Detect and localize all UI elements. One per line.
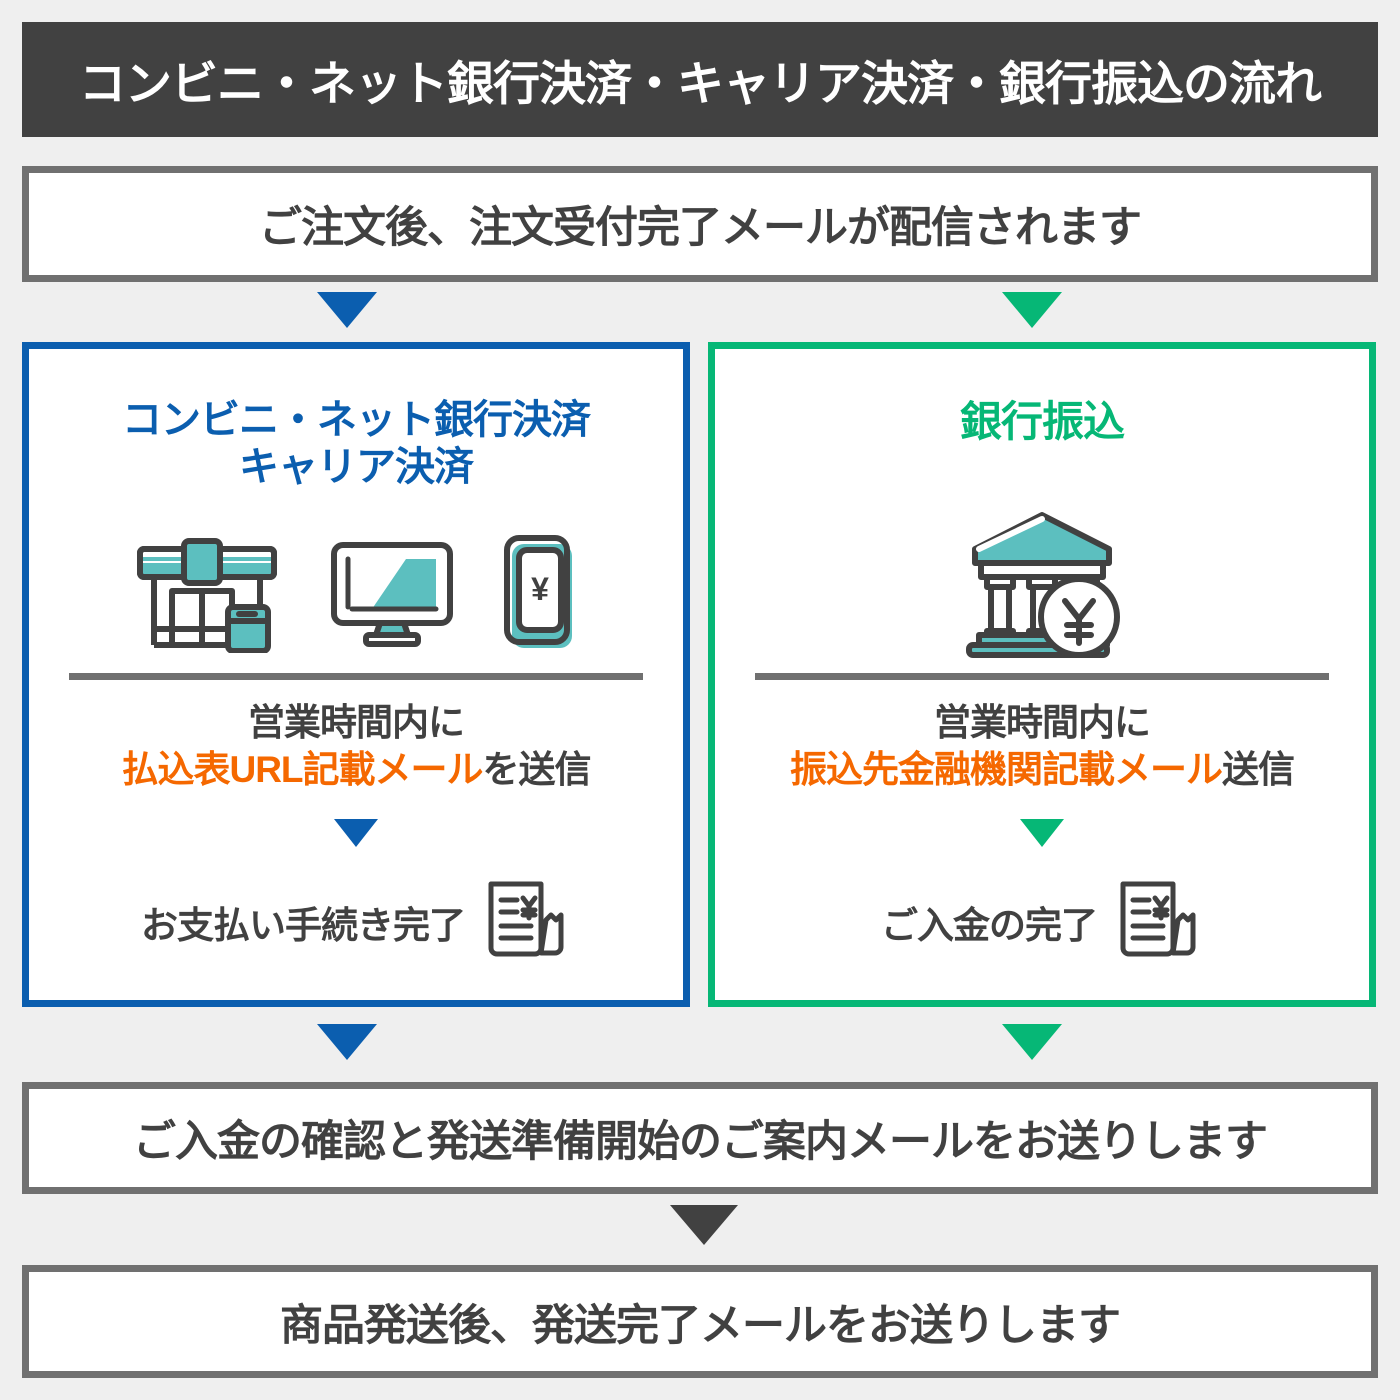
convenience-note-suffix: を送信 bbox=[483, 749, 591, 790]
bank-note-highlight: 振込先金融機関記載メール bbox=[790, 749, 1222, 790]
flow-diagram: コンビニ・ネット銀行決済・キャリア決済・銀行振込の流れ ご注文後、注文受付完了メ… bbox=[0, 0, 1400, 1400]
bank-note-line1: 営業時間内に bbox=[715, 699, 1369, 746]
convenience-note-line2: 払込表URL記載メールを送信 bbox=[29, 746, 683, 793]
step-shipped-label: 商品発送後、発送完了メールをお送りします bbox=[280, 1291, 1120, 1353]
arrow-down-bank-inner bbox=[1020, 819, 1064, 847]
bank-panel-title: 銀行振込 bbox=[715, 397, 1369, 447]
receipt-yen-icon bbox=[479, 874, 571, 971]
convenience-store-icon bbox=[132, 533, 282, 658]
convenience-panel-title-line2: キャリア決済 bbox=[29, 444, 683, 491]
bank-panel-divider bbox=[755, 673, 1329, 680]
bank-panel-title-line1: 銀行振込 bbox=[715, 397, 1369, 447]
step-shipped-box: 商品発送後、発送完了メールをお送りします bbox=[22, 1265, 1378, 1378]
convenience-final-row: お支払い手続き完了 bbox=[29, 867, 683, 977]
arrow-down-to-convenience-panel bbox=[317, 292, 377, 328]
convenience-panel-title-line1: コンビニ・ネット銀行決済 bbox=[29, 397, 683, 444]
bank-note-line2: 振込先金融機関記載メール送信 bbox=[715, 746, 1369, 793]
convenience-payment-panel: コンビニ・ネット銀行決済 キャリア決済 bbox=[22, 342, 690, 1007]
svg-text:¥: ¥ bbox=[531, 571, 549, 607]
receipt-yen-icon bbox=[1111, 874, 1203, 971]
convenience-note-highlight: 払込表URL記載メール bbox=[121, 749, 482, 790]
bank-final-row: ご入金の完了 bbox=[715, 867, 1369, 977]
convenience-panel-divider bbox=[69, 673, 643, 680]
bank-transfer-panel: 銀行振込 bbox=[708, 342, 1376, 1007]
step-payment-confirmed-box: ご入金の確認と発送準備開始のご案内メールをお送りします bbox=[22, 1082, 1378, 1194]
arrow-down-convenience-inner bbox=[334, 819, 378, 847]
convenience-final-label: お支払い手続き完了 bbox=[141, 895, 465, 949]
arrow-down-to-shipped bbox=[670, 1205, 738, 1245]
convenience-panel-title: コンビニ・ネット銀行決済 キャリア決済 bbox=[29, 397, 683, 491]
step-order-mail-label: ご注文後、注文受付完了メールが配信されます bbox=[259, 193, 1141, 255]
bank-building-yen-icon bbox=[957, 509, 1127, 666]
bank-note-suffix: 送信 bbox=[1222, 749, 1294, 790]
page-title-bar: コンビニ・ネット銀行決済・キャリア決済・銀行振込の流れ bbox=[22, 22, 1378, 137]
convenience-note: 営業時間内に 払込表URL記載メールを送信 bbox=[29, 699, 683, 794]
step-payment-confirmed-label: ご入金の確認と発送準備開始のご案内メールをお送りします bbox=[133, 1107, 1267, 1169]
bank-final-label: ご入金の完了 bbox=[881, 895, 1097, 949]
convenience-icon-row: ¥ bbox=[29, 531, 683, 659]
arrow-down-to-bank-panel bbox=[1002, 292, 1062, 328]
arrow-down-from-convenience-panel bbox=[317, 1024, 377, 1060]
arrow-down-from-bank-panel bbox=[1002, 1024, 1062, 1060]
bank-icon-row bbox=[715, 507, 1369, 667]
desktop-monitor-icon bbox=[328, 537, 456, 654]
bank-note: 営業時間内に 振込先金融機関記載メール送信 bbox=[715, 699, 1369, 794]
step-order-mail-box: ご注文後、注文受付完了メールが配信されます bbox=[22, 166, 1378, 282]
page-title: コンビニ・ネット銀行決済・キャリア決済・銀行振込の流れ bbox=[79, 45, 1321, 114]
smartphone-yen-icon: ¥ bbox=[502, 534, 580, 657]
convenience-note-line1: 営業時間内に bbox=[29, 699, 683, 746]
